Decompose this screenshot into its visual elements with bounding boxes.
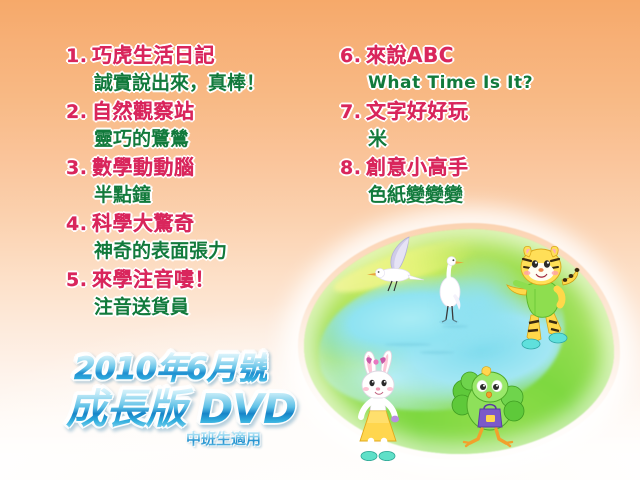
program-list: 1. 巧虎生活日記 誠實說出來，真棒！ 2. 自然觀察站 靈巧的鷺鷥 3. 數學… xyxy=(0,0,640,240)
dvd-menu-screen: 1. 巧虎生活日記 誠實說出來，真棒！ 2. 自然觀察站 靈巧的鷺鷥 3. 數學… xyxy=(0,0,640,480)
water-ripple xyxy=(385,343,431,346)
program-subtitle: 色紙變變變 xyxy=(340,182,610,209)
program-item-2[interactable]: 2. 自然觀察站 靈巧的鷺鷥 xyxy=(66,98,326,153)
program-subtitle: 半點鐘 xyxy=(66,182,326,209)
program-item-7[interactable]: 7. 文字好好玩 米 xyxy=(340,98,610,153)
program-subtitle: 米 xyxy=(340,126,610,153)
program-item-1[interactable]: 1. 巧虎生活日記 誠實說出來，真棒！ xyxy=(66,42,326,97)
program-title-row: 3. 數學動動腦 xyxy=(66,154,326,182)
program-title: 巧虎生活日記 xyxy=(92,42,215,69)
disc-title-block: 2010年6月號 成長版 DVD 中班生適用 xyxy=(66,352,306,442)
issue-date-label: 2010年6月號 xyxy=(74,352,267,386)
program-subtitle: 誠實說出來，真棒！ xyxy=(66,70,326,97)
program-subtitle: 神奇的表面張力 xyxy=(66,238,326,265)
program-list-right-column: 6. 來說ABC What Time Is It? 7. 文字好好玩 米 8. … xyxy=(340,42,610,210)
program-subtitle: 注音送貨員 xyxy=(66,294,326,321)
program-item-3[interactable]: 3. 數學動動腦 半點鐘 xyxy=(66,154,326,209)
program-list-left-column: 1. 巧虎生活日記 誠實說出來，真棒！ 2. 自然觀察站 靈巧的鷺鷥 3. 數學… xyxy=(66,42,326,322)
riverside-meadow-illustration xyxy=(300,225,625,475)
program-title-row: 1. 巧虎生活日記 xyxy=(66,42,326,70)
program-number: 7. xyxy=(340,99,366,126)
program-title: 自然觀察站 xyxy=(92,98,195,125)
program-number: 5. xyxy=(66,267,92,294)
program-item-6[interactable]: 6. 來說ABC What Time Is It? xyxy=(340,42,610,97)
program-title: 來說ABC xyxy=(366,42,454,69)
program-title: 文字好好玩 xyxy=(366,98,469,125)
program-title: 數學動動腦 xyxy=(92,154,195,181)
program-subtitle: What Time Is It? xyxy=(340,70,610,97)
program-number: 1. xyxy=(66,43,92,70)
program-title-row: 5. 來學注音嘍！ xyxy=(66,266,326,294)
program-title-row: 7. 文字好好玩 xyxy=(340,98,610,126)
water-ripple xyxy=(420,351,454,354)
program-item-5[interactable]: 5. 來學注音嘍！ 注音送貨員 xyxy=(66,266,326,321)
program-title-row: 4. 科學大驚奇 xyxy=(66,210,326,238)
edition-label: 成長版 DVD xyxy=(66,386,296,432)
standing-egret-icon xyxy=(431,252,471,328)
program-title-row: 6. 來說ABC xyxy=(340,42,610,70)
parrot-character-icon xyxy=(448,365,528,451)
program-title: 來學注音嘍！ xyxy=(92,266,215,293)
program-title: 科學大驚奇 xyxy=(92,210,195,237)
program-item-4[interactable]: 4. 科學大驚奇 神奇的表面張力 xyxy=(66,210,326,265)
program-subtitle: 靈巧的鷺鷥 xyxy=(66,126,326,153)
program-title-row: 2. 自然觀察站 xyxy=(66,98,326,126)
program-title-row: 8. 創意小高手 xyxy=(340,154,610,182)
program-number: 2. xyxy=(66,99,92,126)
flying-egret-icon xyxy=(364,231,432,293)
rabbit-character-icon xyxy=(350,349,412,465)
program-item-8[interactable]: 8. 創意小高手 色紙變變變 xyxy=(340,154,610,209)
tiger-character-icon xyxy=(505,243,585,361)
audience-label: 中班生適用 xyxy=(186,428,261,449)
program-number: 4. xyxy=(66,211,92,238)
program-title: 創意小高手 xyxy=(366,154,469,181)
program-number: 8. xyxy=(340,155,366,182)
program-number: 3. xyxy=(66,155,92,182)
program-number: 6. xyxy=(340,43,366,70)
